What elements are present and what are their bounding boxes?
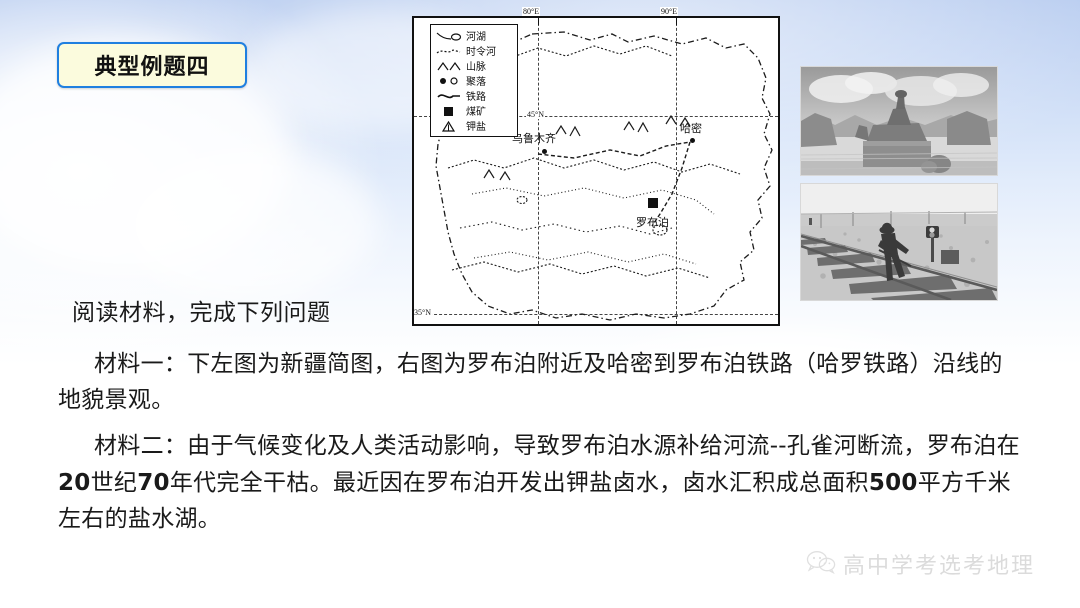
xinjiang-map: 河湖 时令河 山脉 xyxy=(412,16,780,326)
legend-label: 聚落 xyxy=(466,73,486,88)
legend-label: 煤矿 xyxy=(466,103,486,118)
material-one-paragraph: 材料一：下左图为新疆简图，右图为罗布泊附近及哈密到罗布泊铁路（哈罗铁路）沿线的地… xyxy=(58,346,1022,419)
legend-item: 聚落 xyxy=(434,73,515,88)
yardang-photo-art xyxy=(801,67,997,175)
yardang-landform-photo xyxy=(800,66,998,176)
figure-group: 河湖 时令河 山脉 xyxy=(412,8,992,326)
material-two-part-b: 世纪 xyxy=(91,470,138,496)
material-two-part-c: 年代完全干枯。最近因在罗布泊开发出钾盐卤水，卤水汇积成总面积 xyxy=(170,470,869,496)
potash-salt-icon xyxy=(434,119,464,132)
material-two-paragraph: 材料二：由于气候变化及人类活动影响，导致罗布泊水源补给河流--孔雀河断流，罗布泊… xyxy=(58,428,1022,537)
railway-worker-photo xyxy=(800,183,998,301)
watermark: 高中学考选考地理 xyxy=(806,548,1035,580)
legend-label: 钾盐 xyxy=(466,118,486,133)
slide-canvas: 典型例题四 xyxy=(0,0,1080,608)
coal-mine-marker xyxy=(648,198,658,208)
material-two-area-500: 500 xyxy=(869,470,918,496)
settlement-icon xyxy=(434,74,464,87)
map-inner: 河湖 时令河 山脉 xyxy=(414,18,778,324)
lon-label-80e: 80°E xyxy=(522,7,540,16)
legend-label: 山脉 xyxy=(466,58,486,73)
city-marker-hami xyxy=(690,138,695,143)
legend-label: 时令河 xyxy=(466,43,496,58)
slide-title-badge: 典型例题四 xyxy=(57,42,247,88)
lat-label-35n: 35°N xyxy=(414,308,432,317)
coal-mine-icon xyxy=(434,104,464,117)
reading-instruction: 阅读材料，完成下列问题 xyxy=(72,296,1022,332)
legend-item: 铁路 xyxy=(434,88,515,103)
legend-label: 河湖 xyxy=(466,28,486,43)
river-lake-icon xyxy=(434,29,464,42)
watermark-label: 高中学考选考地理 xyxy=(843,548,1035,580)
city-marker-urumqi xyxy=(542,149,547,154)
legend-item: 河湖 xyxy=(434,28,515,43)
railway-icon xyxy=(434,89,464,102)
material-two-part-a: 材料二：由于气候变化及人类活动影响，导致罗布泊水源补给河流--孔雀河断流，罗布泊… xyxy=(94,433,1020,459)
legend-item: 山脉 xyxy=(434,58,515,73)
cloud-decoration xyxy=(120,150,380,300)
legend-label: 铁路 xyxy=(466,88,486,103)
legend-item: 煤矿 xyxy=(434,103,515,118)
lat-label-45n: 45°N xyxy=(526,110,545,119)
material-two-year-20: 20 xyxy=(58,470,91,496)
question-body: 阅读材料，完成下列问题 材料一：下左图为新疆简图，右图为罗布泊附近及哈密到罗布泊… xyxy=(58,296,1022,547)
slide-title-text: 典型例题四 xyxy=(94,49,209,81)
material-two-year-70: 70 xyxy=(137,470,170,496)
wechat-icon xyxy=(806,550,836,579)
place-label-urumqi: 乌鲁木齐 xyxy=(512,130,556,146)
map-legend: 河湖 时令河 山脉 xyxy=(430,24,518,137)
legend-item: 时令河 xyxy=(434,43,515,58)
place-label-lopnur: 罗布泊 xyxy=(636,214,669,230)
legend-item: 钾盐 xyxy=(434,118,515,133)
railway-photo-art xyxy=(801,184,997,300)
seasonal-river-icon xyxy=(434,44,464,57)
place-label-hami: 哈密 xyxy=(680,120,702,136)
mountain-range-icon xyxy=(434,59,464,72)
lon-label-90e: 90°E xyxy=(660,7,678,16)
